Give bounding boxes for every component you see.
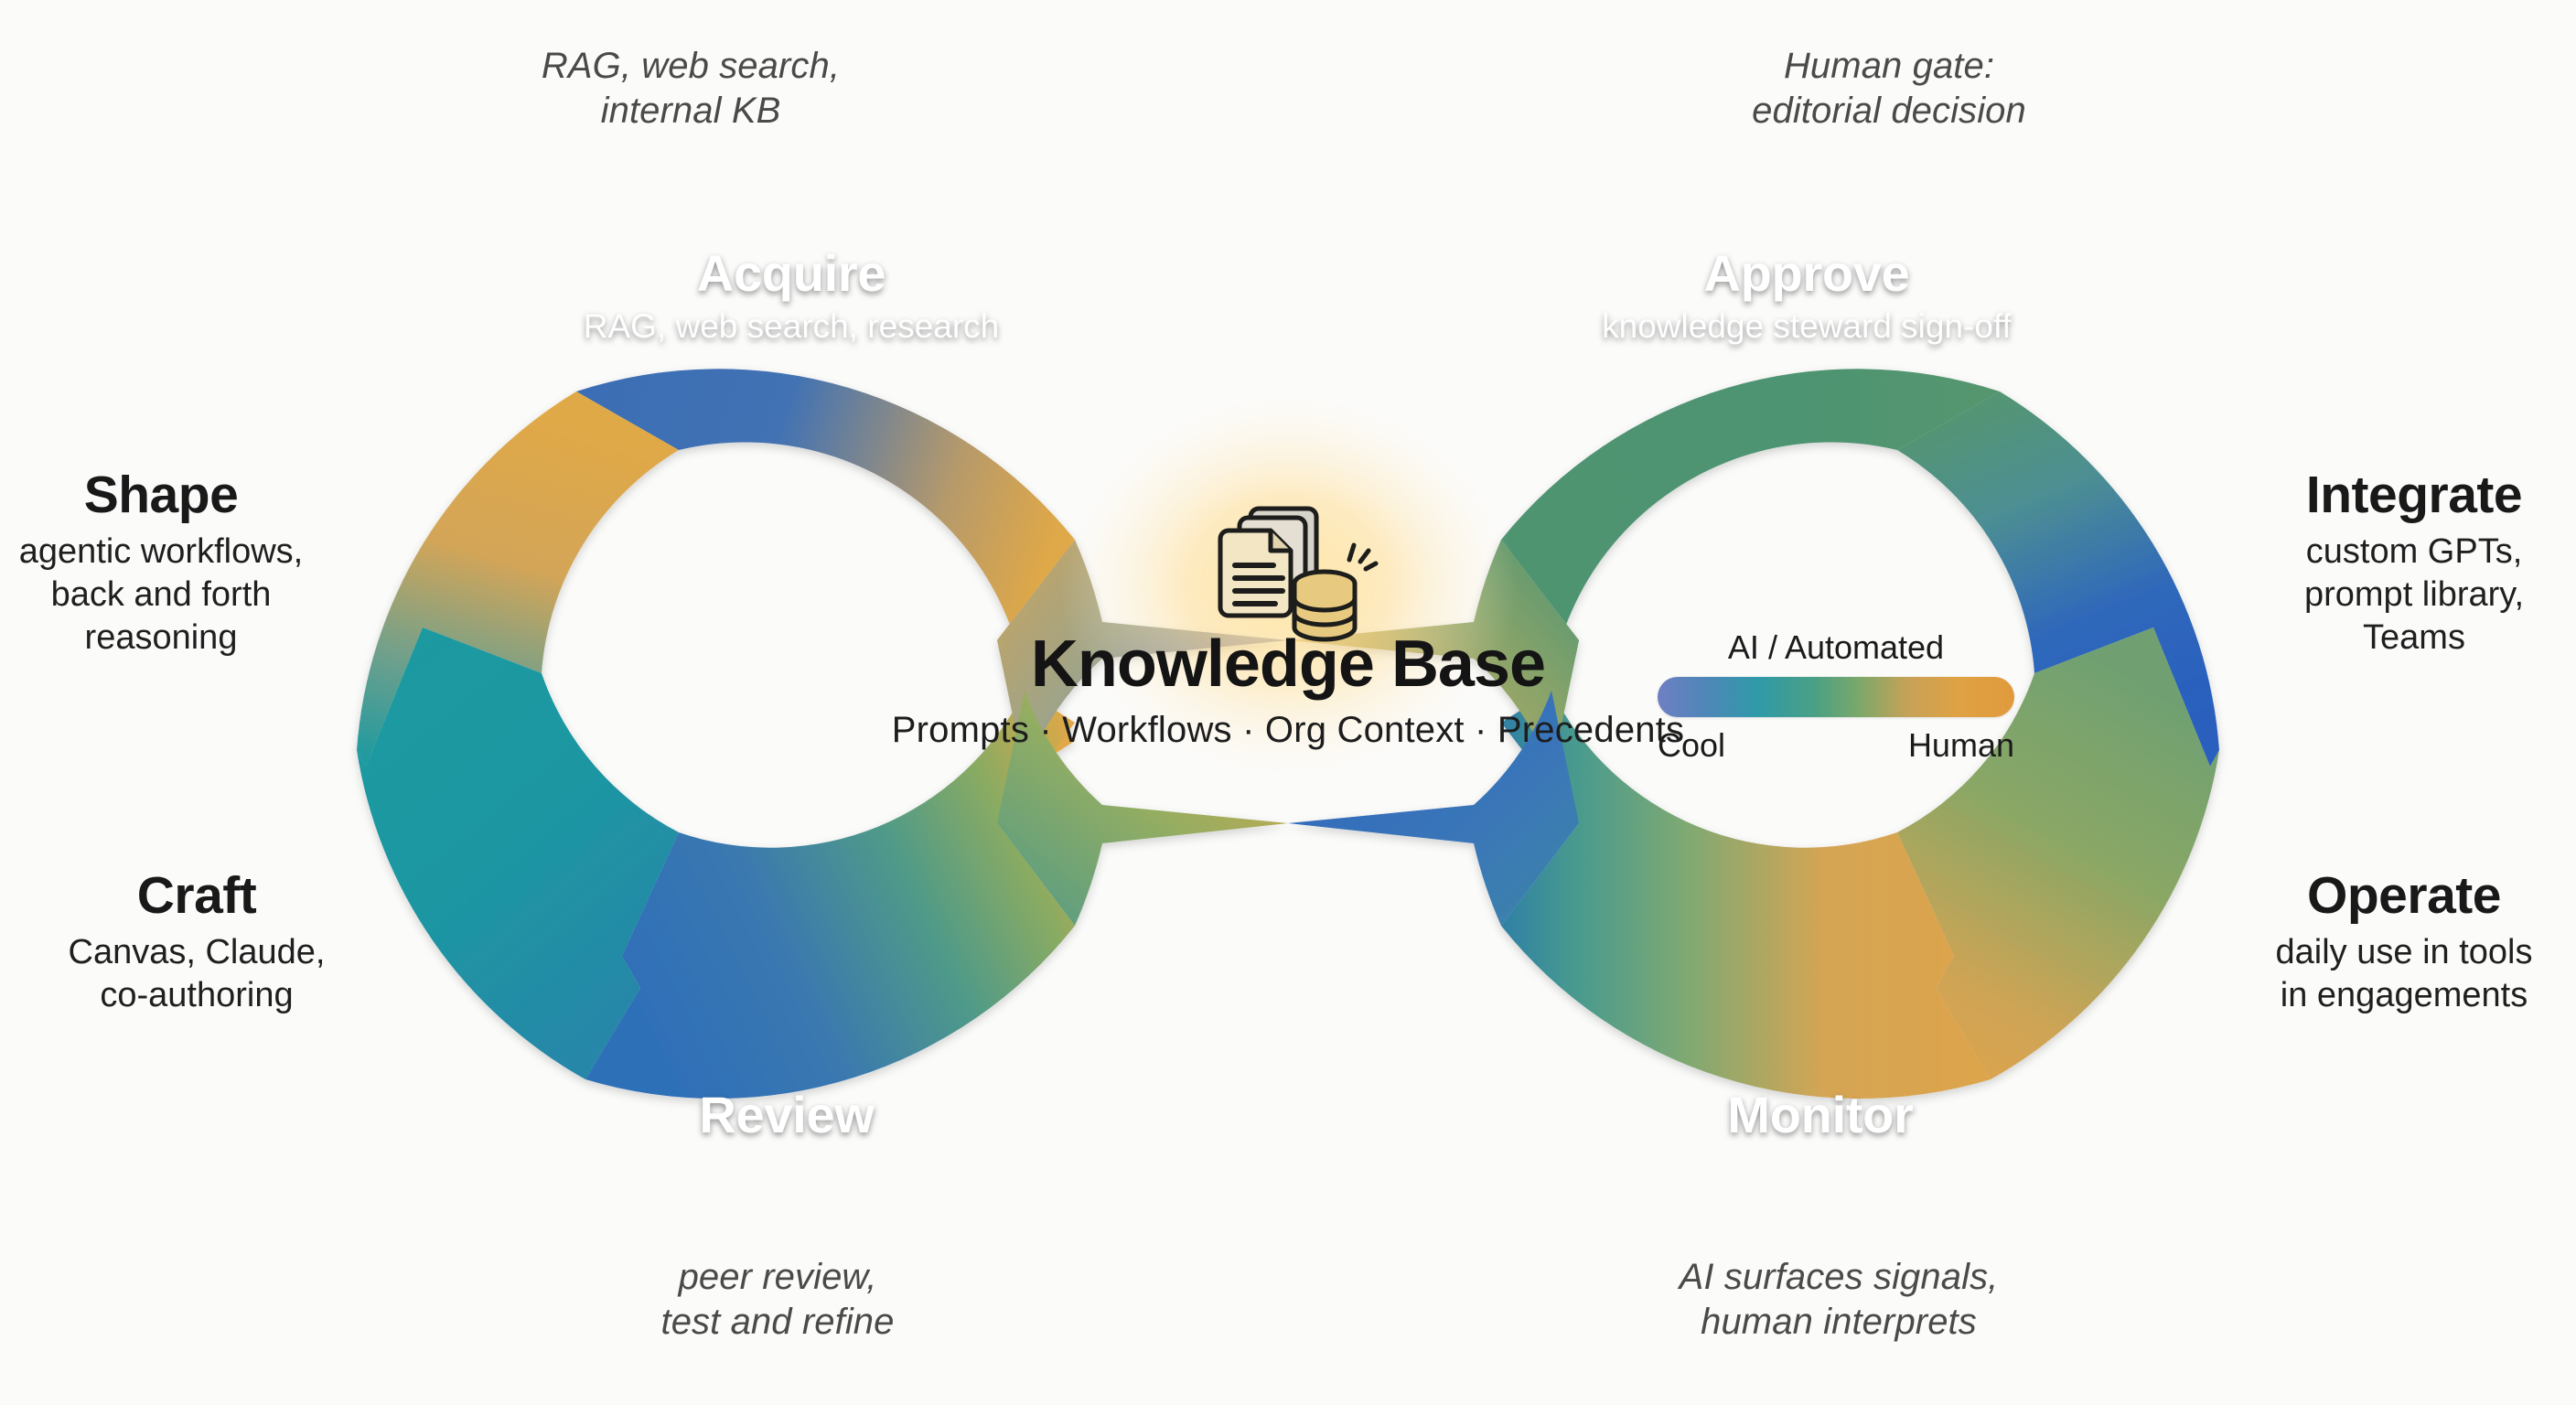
- annotation-review: peer review, test and refine: [585, 1255, 970, 1345]
- annotation-approve: Human gate: editorial decision: [1674, 44, 2104, 134]
- legend-endpoint-labels: Cool Human: [1658, 726, 2014, 765]
- stage-operate-title: Operate: [2232, 869, 2576, 924]
- legend-right-label: Human: [1908, 726, 2014, 765]
- legend-top-label: AI / Automated: [1658, 631, 2014, 664]
- stage-shape-title: Shape: [0, 468, 322, 523]
- hub-subtitle: Prompts · Workflows · Org Context · Prec…: [785, 710, 1791, 751]
- segment-review[interactable]: [585, 691, 1075, 1099]
- stage-operate-subtitle: daily use in tools in engagements: [2232, 931, 2576, 1017]
- stage-integrate[interactable]: Integrate custom GPTs, prompt library, T…: [2252, 468, 2576, 660]
- page-title: Knowledge Base: [785, 631, 1791, 697]
- legend-gradient-bar: [1658, 677, 2014, 717]
- legend-left-label: Cool: [1658, 726, 1725, 765]
- stage-craft[interactable]: Craft Canvas, Claude, co-authoring: [37, 869, 357, 1017]
- annotation-monitor: AI surfaces signals, human interprets: [1610, 1255, 2067, 1345]
- stage-craft-title: Craft: [37, 869, 357, 924]
- diagram-canvas: Knowledge Base Prompts · Workflows · Org…: [0, 0, 2576, 1405]
- stage-shape[interactable]: Shape agentic workflows, back and forth …: [0, 468, 322, 660]
- stage-integrate-title: Integrate: [2252, 468, 2576, 523]
- stage-shape-subtitle: agentic workflows, back and forth reason…: [0, 531, 322, 660]
- stage-integrate-subtitle: custom GPTs, prompt library, Teams: [2252, 531, 2576, 660]
- color-legend: AI / Automated Cool Human: [1658, 631, 2014, 765]
- stage-craft-subtitle: Canvas, Claude, co-authoring: [37, 931, 357, 1017]
- stage-operate[interactable]: Operate daily use in tools in engagement…: [2232, 869, 2576, 1017]
- annotation-acquire: RAG, web search, internal KB: [476, 44, 906, 134]
- center-hub: Knowledge Base Prompts · Workflows · Org…: [785, 631, 1791, 751]
